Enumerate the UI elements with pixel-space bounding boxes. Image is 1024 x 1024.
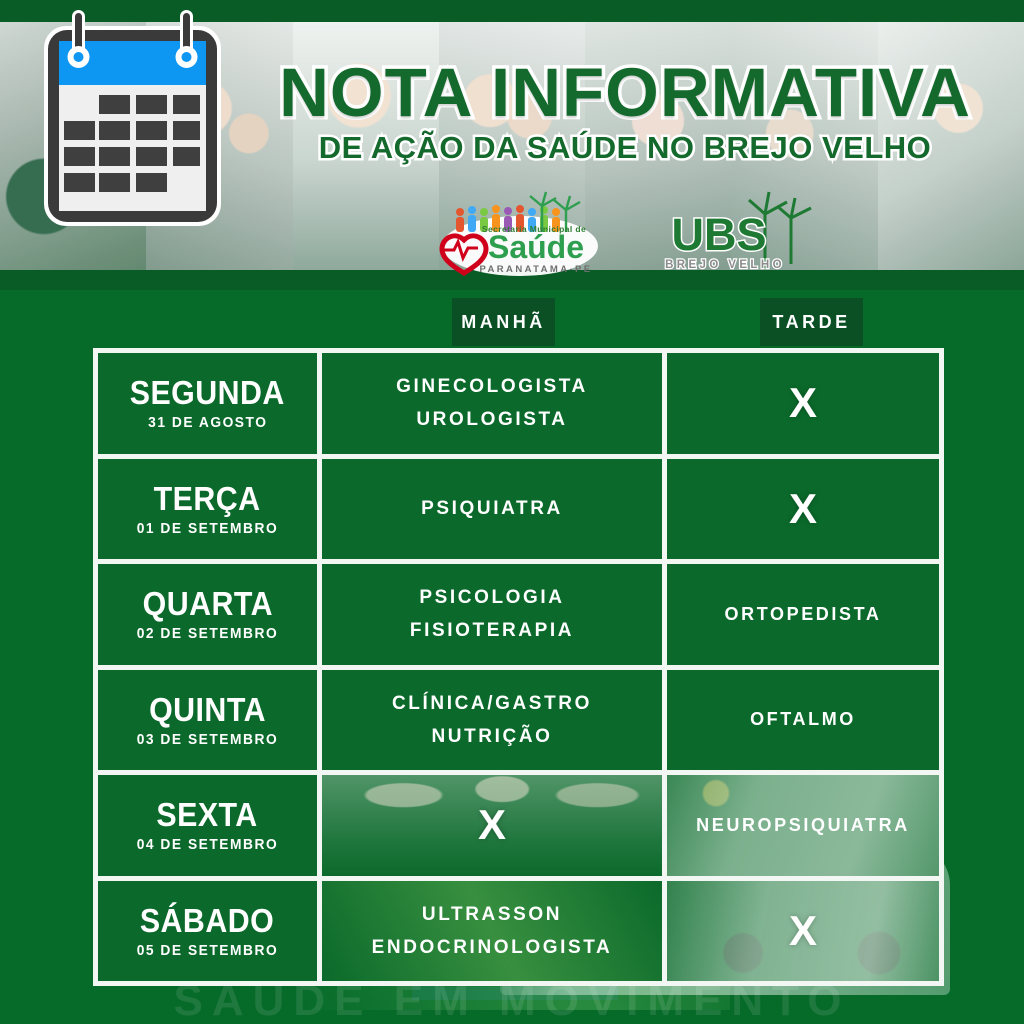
specialty-item: GINECOLOGISTA: [396, 370, 588, 403]
svg-text:UBS: UBS: [671, 209, 766, 260]
morning-specialties: PSICOLOGIA FISIOTERAPIA: [410, 581, 574, 648]
day-name: QUINTA: [149, 693, 266, 726]
poster-title: NOTA INFORMATIVA: [255, 60, 995, 126]
day-date: 05 DE SETEMBRO: [137, 944, 278, 959]
day-cell: SÁBADO 05 DE SETEMBRO: [98, 881, 317, 982]
svg-text:Saúde: Saúde: [488, 229, 584, 265]
schedule-table: SEGUNDA 31 DE AGOSTO GINECOLOGISTA UROLO…: [93, 348, 944, 986]
afternoon-specialties: OFTALMO: [750, 709, 856, 730]
day-cell: TERÇA 01 DE SETEMBRO: [98, 459, 317, 560]
day-name: SEXTA: [157, 798, 258, 831]
afternoon-cell: ORTOPEDISTA: [667, 564, 939, 665]
morning-specialties: GINECOLOGISTA UROLOGISTA: [396, 370, 588, 437]
afternoon-cell: NEUROPSIQUIATRA: [667, 775, 939, 876]
day-date: 04 DE SETEMBRO: [137, 838, 278, 853]
day-date: 02 DE SETEMBRO: [137, 627, 278, 642]
specialty-item: PSICOLOGIA: [410, 581, 574, 614]
specialty-item: ULTRASSON: [372, 898, 613, 931]
morning-cell: GINECOLOGISTA UROLOGISTA: [322, 353, 662, 454]
day-date: 03 DE SETEMBRO: [137, 733, 278, 748]
morning-cell: CLÍNICA/GASTRO NUTRIÇÃO: [322, 670, 662, 771]
poster-title-block: NOTA INFORMATIVA DE AÇÃO DA SAÚDE NO BRE…: [255, 60, 995, 163]
closed-x-mark: X: [789, 382, 817, 424]
specialty-item: CLÍNICA/GASTRO: [392, 687, 592, 720]
specialty-item: NUTRIÇÃO: [392, 720, 592, 753]
afternoon-cell: OFTALMO: [667, 670, 939, 771]
table-row: SÁBADO 05 DE SETEMBRO ULTRASSON ENDOCRIN…: [98, 881, 939, 982]
day-name: TERÇA: [154, 482, 261, 515]
afternoon-specialties: ORTOPEDISTA: [725, 604, 882, 625]
morning-specialties: ULTRASSON ENDOCRINOLOGISTA: [372, 898, 613, 965]
day-name: SEGUNDA: [130, 376, 285, 409]
column-header-manha: MANHÃ: [452, 298, 555, 346]
specialty-item: UROLOGISTA: [396, 403, 588, 436]
day-date: 31 DE AGOSTO: [148, 416, 267, 431]
morning-cell: PSICOLOGIA FISIOTERAPIA: [322, 564, 662, 665]
specialty-item: PSIQUIATRA: [421, 494, 563, 523]
afternoon-specialties: NEUROPSIQUIATRA: [696, 815, 910, 836]
svg-text:PARANATAMA-PE: PARANATAMA-PE: [480, 264, 593, 275]
day-cell: SEXTA 04 DE SETEMBRO: [98, 775, 317, 876]
specialty-item: ENDOCRINOLOGISTA: [372, 931, 613, 964]
afternoon-cell: X: [667, 459, 939, 560]
day-cell: QUINTA 03 DE SETEMBRO: [98, 670, 317, 771]
morning-cell: X: [322, 775, 662, 876]
day-cell: QUARTA 02 DE SETEMBRO: [98, 564, 317, 665]
afternoon-cell: X: [667, 353, 939, 454]
day-name: SÁBADO: [140, 904, 274, 937]
saude-paranatama-logo: Secretaria Municipal de Saúde PARANATAMA…: [430, 188, 610, 280]
day-cell: SEGUNDA 31 DE AGOSTO: [98, 353, 317, 454]
table-row: QUARTA 02 DE SETEMBRO PSICOLOGIA FISIOTE…: [98, 564, 939, 665]
morning-specialties: PSIQUIATRA: [421, 494, 563, 523]
morning-cell: PSIQUIATRA: [322, 459, 662, 560]
closed-x-mark: X: [478, 804, 506, 846]
calendar-icon: [30, 8, 235, 236]
morning-cell: ULTRASSON ENDOCRINOLOGISTA: [322, 881, 662, 982]
specialty-item: FISIOTERAPIA: [410, 614, 574, 647]
morning-specialties: CLÍNICA/GASTRO NUTRIÇÃO: [392, 687, 592, 754]
table-row: QUINTA 03 DE SETEMBRO CLÍNICA/GASTRO NUT…: [98, 670, 939, 771]
closed-x-mark: X: [789, 488, 817, 530]
day-name: QUARTA: [142, 587, 272, 620]
schedule-column-headers: MANHÃ TARDE: [0, 298, 1024, 346]
table-row: SEXTA 04 DE SETEMBRO X NEUROPSIQUIATRA: [98, 775, 939, 876]
closed-x-mark: X: [789, 910, 817, 952]
day-date: 01 DE SETEMBRO: [137, 522, 278, 537]
afternoon-cell: X: [667, 881, 939, 982]
poster-subtitle: DE AÇÃO DA SAÚDE NO BREJO VELHO: [255, 132, 995, 163]
ubs-brejo-velho-logo: UBS BREJO VELHO: [645, 188, 820, 280]
svg-text:BREJO VELHO: BREJO VELHO: [665, 259, 785, 271]
table-row: SEGUNDA 31 DE AGOSTO GINECOLOGISTA UROLO…: [98, 353, 939, 454]
column-header-tarde: TARDE: [760, 298, 863, 346]
table-row: TERÇA 01 DE SETEMBRO PSIQUIATRA X: [98, 459, 939, 560]
poster-root: PROGRAMA SAÚDE EM MOVIMENTO: [0, 0, 1024, 1024]
